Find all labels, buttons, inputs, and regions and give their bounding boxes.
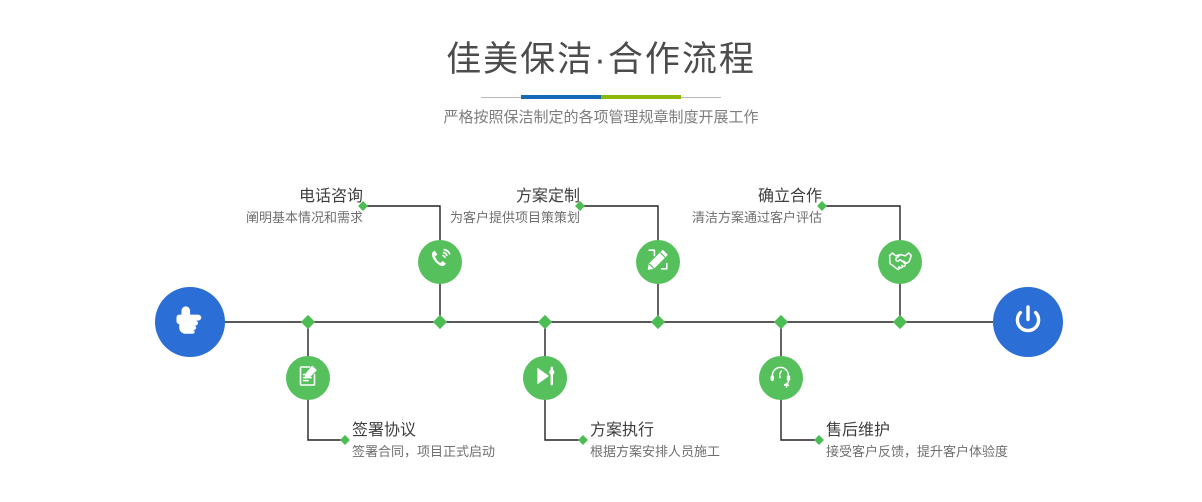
flow-end-endpoint[interactable]	[993, 287, 1063, 357]
step-title-4: 方案执行	[590, 420, 720, 442]
label-diamond-group	[340, 201, 827, 445]
flow-start-endpoint[interactable]	[155, 287, 225, 357]
step-icon-1[interactable]	[418, 240, 462, 284]
step-title-3: 方案定制	[300, 186, 580, 208]
step-icon-4[interactable]	[523, 356, 567, 400]
label-diamond-4	[578, 435, 588, 445]
step-desc-5: 清洁方案通过客户评估	[542, 208, 822, 228]
phone-call-icon	[427, 247, 453, 278]
step-label-2: 签署协议 签署合同，项目正式启动	[352, 420, 495, 462]
axis-diamond-4	[538, 315, 552, 329]
step-desc-3: 为客户提供项目策策划	[300, 208, 580, 228]
step-icon-3[interactable]	[636, 240, 680, 284]
play-execute-icon	[532, 363, 558, 394]
step-icon-5[interactable]	[878, 240, 922, 284]
step-desc-4: 根据方案安排人员施工	[590, 442, 720, 462]
process-flow-diagram: 电话咨询 阐明基本情况和需求 签署协议 签署合同，项目正式启动	[0, 0, 1202, 502]
pointing-hand-icon	[170, 300, 210, 345]
power-icon	[1008, 300, 1048, 345]
label-diamond-6	[814, 435, 824, 445]
step-label-5: 确立合作 清洁方案通过客户评估	[542, 186, 834, 228]
pencil-design-icon	[645, 247, 671, 278]
step-icon-2[interactable]	[286, 356, 330, 400]
axis-diamond-3	[651, 315, 665, 329]
axis-diamond-1	[433, 315, 447, 329]
label-diamond-2	[340, 435, 350, 445]
customer-service-icon	[768, 363, 794, 394]
axis-diamond-6	[774, 315, 788, 329]
step-title-6: 售后维护	[826, 420, 1008, 442]
step-title-2: 签署协议	[352, 420, 495, 442]
process-flow-page: 佳美保洁·合作流程 严格按照保洁制定的各项管理规章制度开展工作	[0, 0, 1202, 502]
step-desc-6: 接受客户反馈，提升客户体验度	[826, 442, 1008, 462]
document-edit-icon	[295, 363, 321, 394]
handshake-icon	[887, 246, 914, 278]
step-title-5: 确立合作	[542, 186, 822, 208]
step-label-4: 方案执行 根据方案安排人员施工	[590, 420, 720, 462]
step-label-6: 售后维护 接受客户反馈，提升客户体验度	[826, 420, 1008, 462]
step-desc-2: 签署合同，项目正式启动	[352, 442, 495, 462]
axis-diamond-5	[893, 315, 907, 329]
step-icon-6[interactable]	[759, 356, 803, 400]
axis-diamond-2	[301, 315, 315, 329]
